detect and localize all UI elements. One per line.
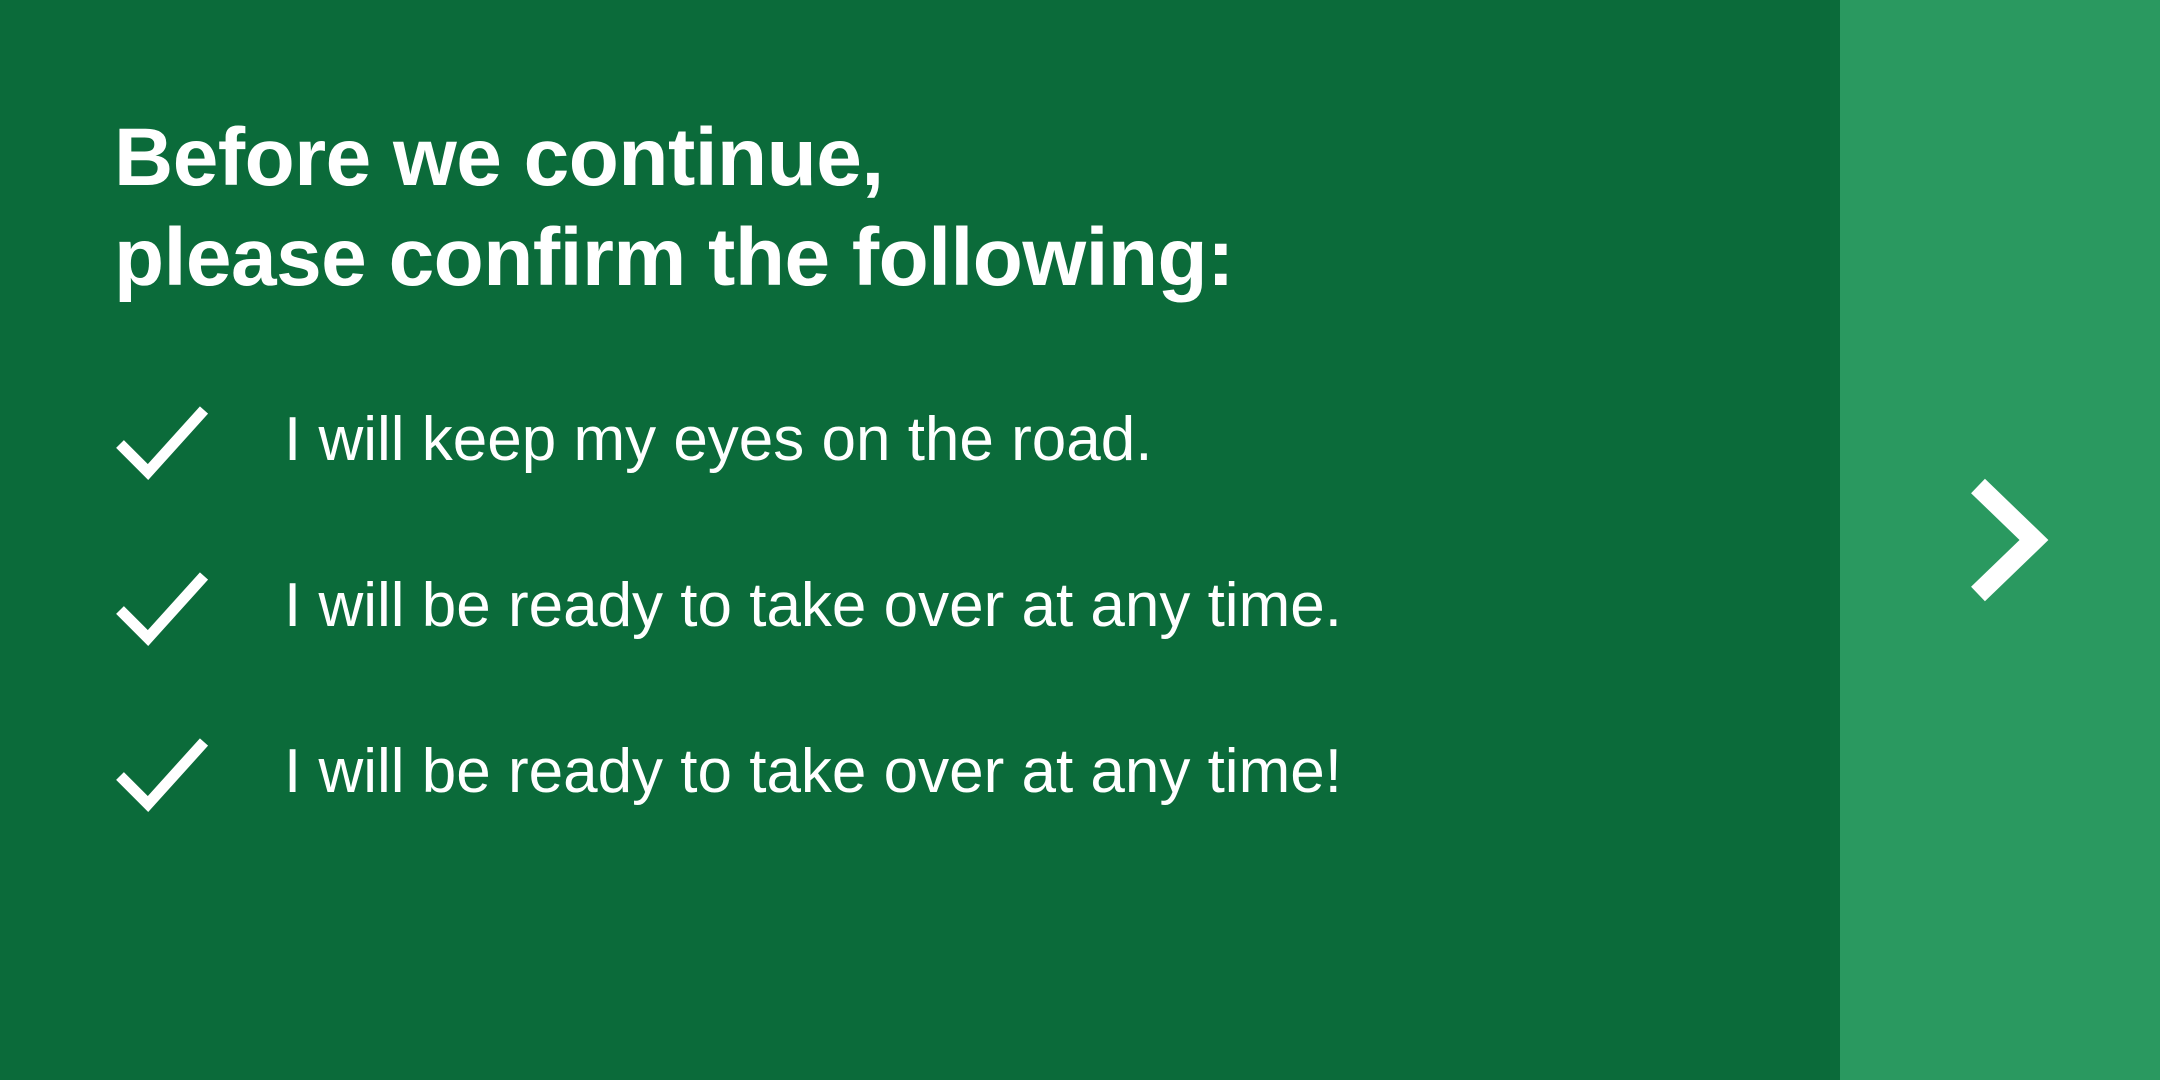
page-title: Before we continue,please confirm the fo… bbox=[114, 108, 1234, 308]
checkmark-icon bbox=[114, 392, 210, 488]
main-panel: Before we continue,please confirm the fo… bbox=[0, 0, 1840, 1080]
checklist-item[interactable]: I will keep my eyes on the road. bbox=[114, 392, 1714, 488]
checklist-item-label: I will be ready to take over at any time… bbox=[284, 724, 1342, 820]
confirmation-checklist: I will keep my eyes on the road. I will … bbox=[114, 392, 1714, 820]
checklist-item[interactable]: I will be ready to take over at any time… bbox=[114, 558, 1714, 654]
page-title-line-2: please confirm the following: bbox=[114, 208, 1234, 308]
page-title-line-1: Before we continue, bbox=[114, 108, 1234, 208]
checklist-item-label: I will keep my eyes on the road. bbox=[284, 392, 1152, 488]
confirmation-screen: Before we continue,please confirm the fo… bbox=[0, 0, 2160, 1080]
checklist-item-label: I will be ready to take over at any time… bbox=[284, 558, 1342, 654]
checkmark-icon bbox=[114, 558, 210, 654]
chevron-right-icon[interactable] bbox=[1940, 470, 2060, 610]
next-button[interactable] bbox=[1840, 0, 2160, 1080]
checkmark-icon bbox=[114, 724, 210, 820]
checklist-item[interactable]: I will be ready to take over at any time… bbox=[114, 724, 1714, 820]
